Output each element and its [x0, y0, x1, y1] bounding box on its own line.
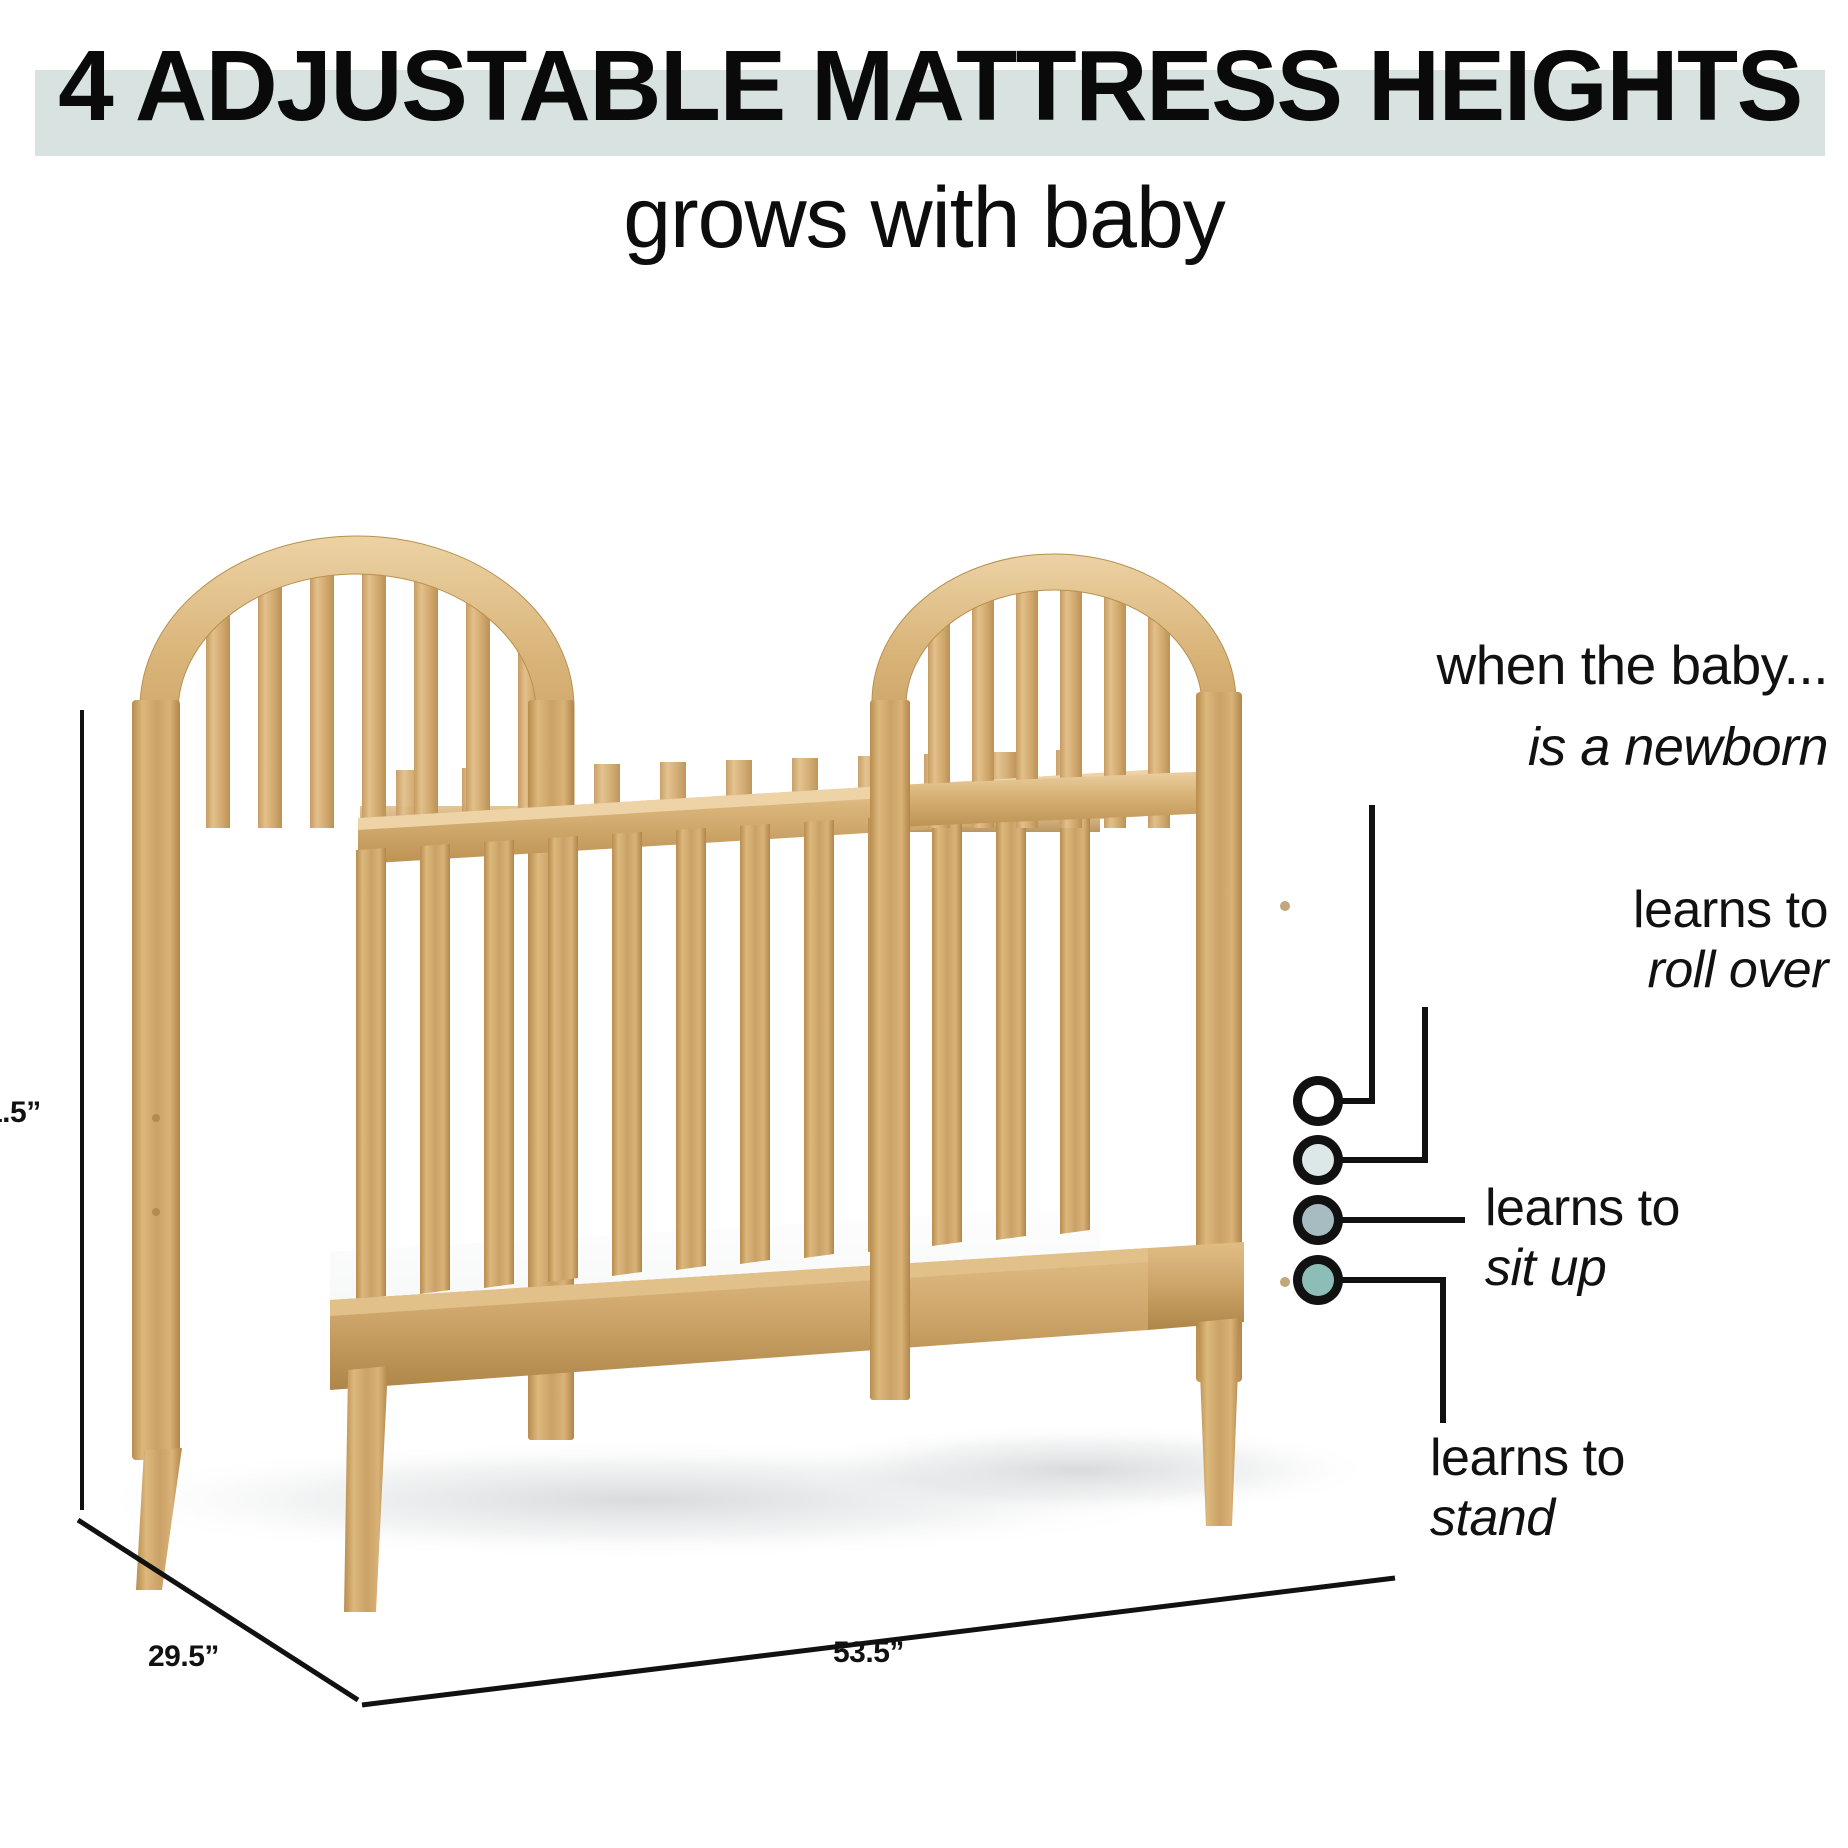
- annotation-roll-over: learns to roll over: [1120, 880, 1828, 1000]
- annotation-sit-up-regular: learns to: [1485, 1178, 1848, 1238]
- annotation-stand-regular: learns to: [1430, 1428, 1848, 1488]
- annotation-sit-up: learns to sit up: [1180, 1178, 1848, 1298]
- annotation-roll-over-italic: roll over: [1120, 940, 1828, 1000]
- annotation-newborn: is a newborn: [1148, 718, 1828, 776]
- dimension-label-width: 53.5”: [833, 1636, 904, 1670]
- annotation-stand: learns to stand: [1180, 1428, 1848, 1548]
- dimension-label-height: 1.5”: [0, 1096, 41, 1130]
- mattress-level-dot-1[interactable]: [1293, 1076, 1343, 1126]
- dimension-label-depth: 29.5”: [148, 1640, 219, 1674]
- annotation-roll-over-regular: learns to: [1120, 880, 1828, 940]
- annotation-newborn-italic: is a newborn: [1528, 717, 1828, 777]
- annotation-stand-italic: stand: [1430, 1488, 1848, 1548]
- annotation-intro: when the baby...: [1148, 636, 1828, 694]
- annotation-sit-up-italic: sit up: [1485, 1238, 1848, 1298]
- infographic-canvas: 4 ADJUSTABLE MATTRESS HEIGHTS grows with…: [0, 0, 1848, 1848]
- annotation-intro-text: when the baby...: [1436, 634, 1828, 696]
